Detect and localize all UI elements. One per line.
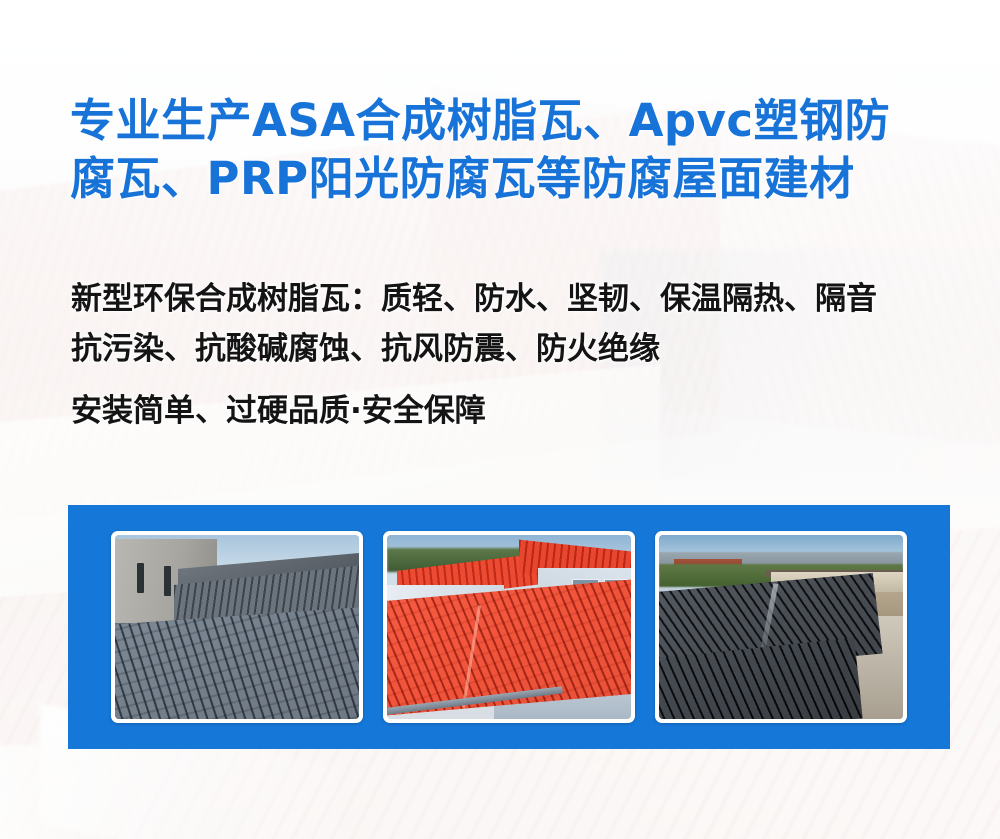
headline-block: 专业生产ASA合成树脂瓦、Apvc塑钢防 腐瓦、PRP阳光防腐瓦等防腐屋面建材 bbox=[70, 92, 950, 208]
photo-frame-1[interactable] bbox=[111, 531, 363, 723]
product-promo-banner: 专业生产ASA合成树脂瓦、Apvc塑钢防 腐瓦、PRP阳光防腐瓦等防腐屋面建材 … bbox=[0, 0, 1000, 839]
photo-gallery-panel bbox=[68, 505, 950, 749]
photo-frame-2[interactable] bbox=[383, 531, 635, 723]
headline-line-1: 专业生产ASA合成树脂瓦、Apvc塑钢防 bbox=[70, 92, 950, 150]
subtitle-line-features: 新型环保合成树脂瓦：质轻、防水、坚韧、保温隔热、隔音 bbox=[71, 274, 961, 324]
subtitle-block: 新型环保合成树脂瓦：质轻、防水、坚韧、保温隔热、隔音 抗污染、抗酸碱腐蚀、抗风防… bbox=[71, 274, 961, 436]
photo1-window bbox=[137, 563, 144, 593]
photo-frame-3[interactable] bbox=[655, 531, 907, 723]
banner-content: 专业生产ASA合成树脂瓦、Apvc塑钢防 腐瓦、PRP阳光防腐瓦等防腐屋面建材 … bbox=[0, 0, 1000, 839]
black-resin-tile-roof-photo bbox=[659, 535, 903, 719]
grey-resin-tile-roof-photo bbox=[115, 535, 359, 719]
red-resin-tile-roof-photo bbox=[387, 535, 631, 719]
photo1-main-tile-roof bbox=[115, 605, 359, 719]
subtitle-line-resistance: 抗污染、抗酸碱腐蚀、抗风防震、防火绝缘 bbox=[71, 324, 961, 374]
photo1-window bbox=[164, 566, 171, 596]
headline-line-2: 腐瓦、PRP阳光防腐瓦等防腐屋面建材 bbox=[70, 150, 950, 208]
subtitle-line-quality: 安装简单、过硬品质·安全保障 bbox=[71, 386, 961, 436]
